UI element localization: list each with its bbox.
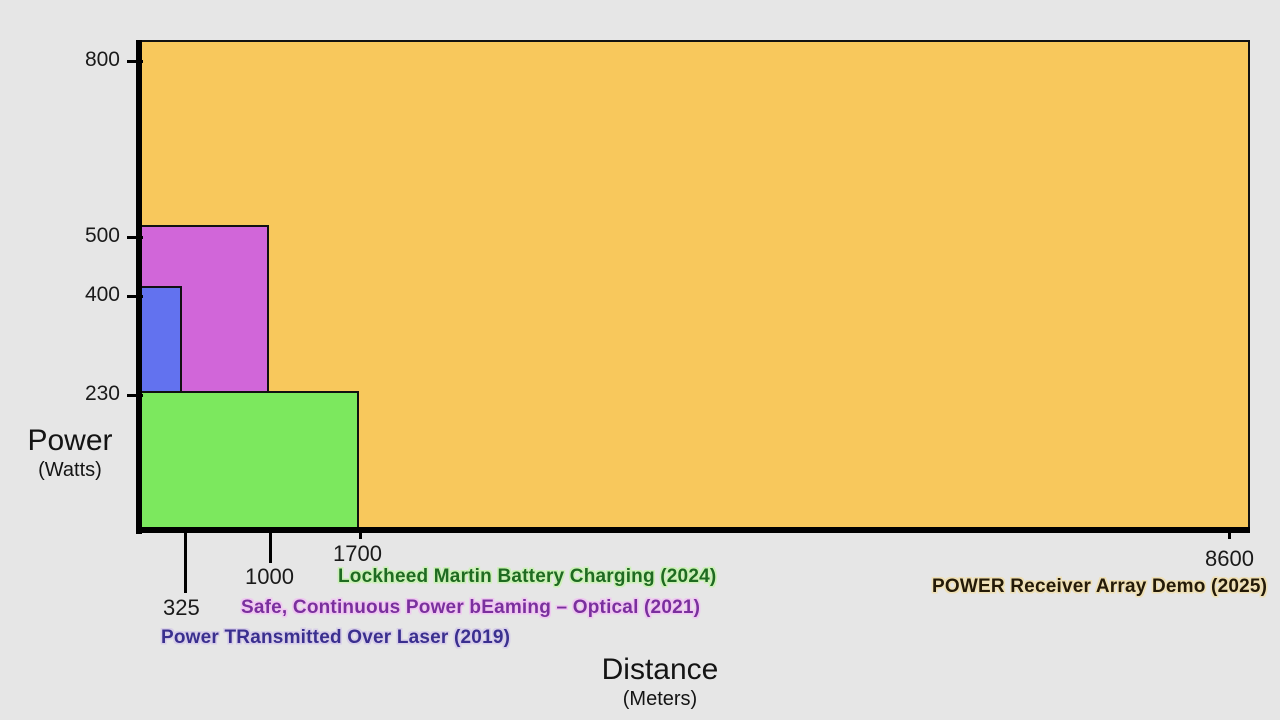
power-vs-distance-chart: 800 500 400 230 325 1000 1700 8600 Power… [0, 0, 1280, 720]
series-label-text: Lockheed Martin Battery Charging (2024) [338, 566, 716, 587]
y-tick-label-500: 500 [0, 224, 120, 248]
x-tick-mark-8600 [1228, 531, 1231, 539]
y-tick-label-400: 400 [0, 283, 120, 307]
x-tick-label-1000: 1000 [245, 564, 294, 590]
plot-area [140, 40, 1250, 532]
series-label-lockheed-martin-battery-charging-2024: Lockheed Martin Battery Charging (2024) [338, 566, 716, 588]
y-tick-mark-230 [127, 394, 143, 397]
y-tick-mark-500 [127, 236, 143, 239]
x-axis-title-main: Distance [520, 653, 800, 687]
series-label-safe-continuous-power-beaming-optical-2021: Safe, Continuous Power bEaming – Optical… [241, 597, 700, 619]
x-tick-label-1700: 1700 [333, 541, 382, 567]
series-label-text: Safe, Continuous Power bEaming – Optical… [241, 597, 700, 618]
y-axis-title-main: Power [0, 424, 140, 458]
series-label-power-receiver-array-demo-2025: POWER Receiver Array Demo (2025) [932, 576, 1267, 598]
x-tick-mark-1000 [269, 531, 272, 563]
x-axis-line [136, 527, 1250, 533]
y-tick-mark-800 [127, 60, 143, 63]
series-label-text: Power TRansmitted Over Laser (2019) [161, 627, 510, 648]
x-tick-label-8600: 8600 [1205, 546, 1254, 572]
y-tick-mark-400 [127, 295, 143, 298]
y-tick-label-800: 800 [0, 48, 120, 72]
y-axis-title: Power (Watts) [0, 424, 140, 482]
x-axis-title-unit: (Meters) [520, 687, 800, 711]
y-tick-label-230: 230 [0, 382, 120, 406]
x-tick-label-325: 325 [163, 595, 200, 621]
series-label-text: POWER Receiver Array Demo (2025) [932, 576, 1267, 597]
series-label-power-transmitted-over-laser-2019: Power TRansmitted Over Laser (2019) [161, 627, 510, 649]
x-axis-title: Distance (Meters) [520, 653, 800, 711]
bar-lockheed-martin-battery-charging-2024 [140, 391, 359, 532]
y-axis-title-unit: (Watts) [0, 458, 140, 482]
x-tick-mark-1700 [359, 531, 362, 539]
x-tick-mark-325 [184, 531, 187, 593]
